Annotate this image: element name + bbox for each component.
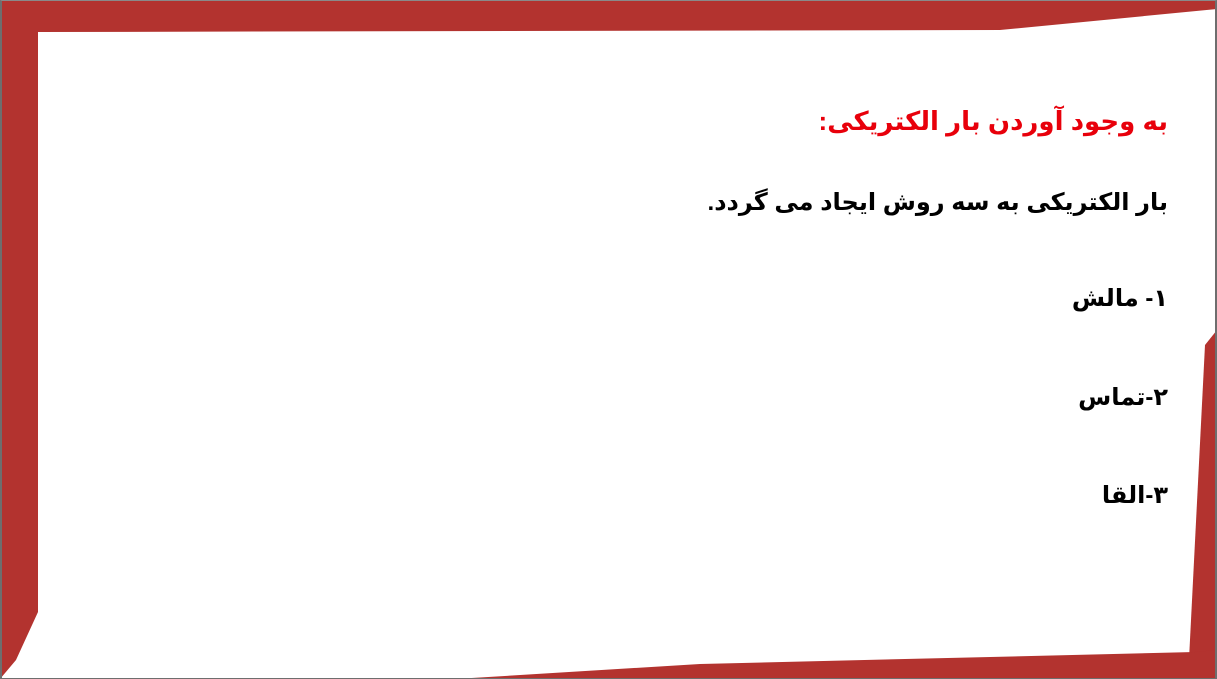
slide: به وجود آوردن بار الکتریکی: بار الکتریکی…: [0, 0, 1217, 679]
list-item: ۱- مالش: [368, 283, 1168, 314]
slide-intro-line: بار الکتریکی به سه روش ایجاد می گردد.: [368, 187, 1168, 219]
list-item: ۲-تماس: [368, 382, 1168, 413]
list-item: ۳-القا: [368, 480, 1168, 511]
slide-heading: به وجود آوردن بار الکتریکی:: [368, 104, 1168, 139]
text-block: به وجود آوردن بار الکتریکی: بار الکتریکی…: [368, 104, 1168, 511]
methods-list: ۱- مالش ۲-تماس ۳-القا: [368, 283, 1168, 511]
slide-content: به وجود آوردن بار الکتریکی: بار الکتریکی…: [0, 0, 1217, 679]
